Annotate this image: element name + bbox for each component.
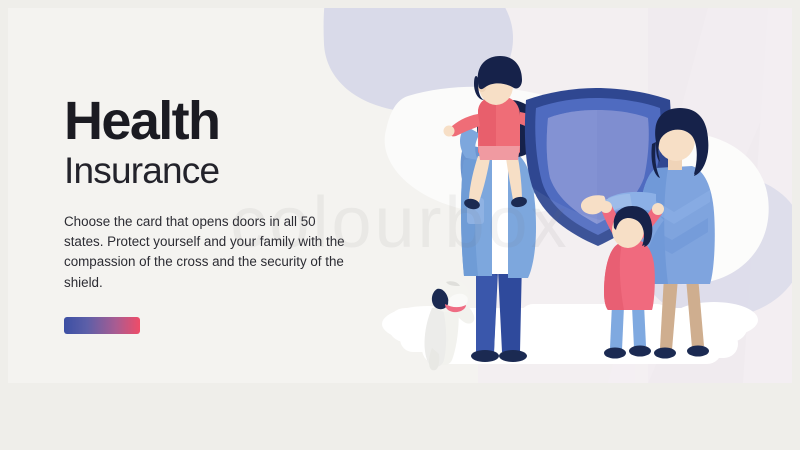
hero-body-copy: Choose the card that opens doors in all … bbox=[64, 212, 354, 294]
hero-text-column: Health Insurance Choose the card that op… bbox=[64, 95, 384, 334]
page-subtitle: Insurance bbox=[64, 152, 384, 190]
cta-button[interactable] bbox=[64, 317, 140, 334]
banner-root: Health Insurance Choose the card that op… bbox=[0, 0, 800, 450]
page-title: Health bbox=[64, 95, 384, 148]
